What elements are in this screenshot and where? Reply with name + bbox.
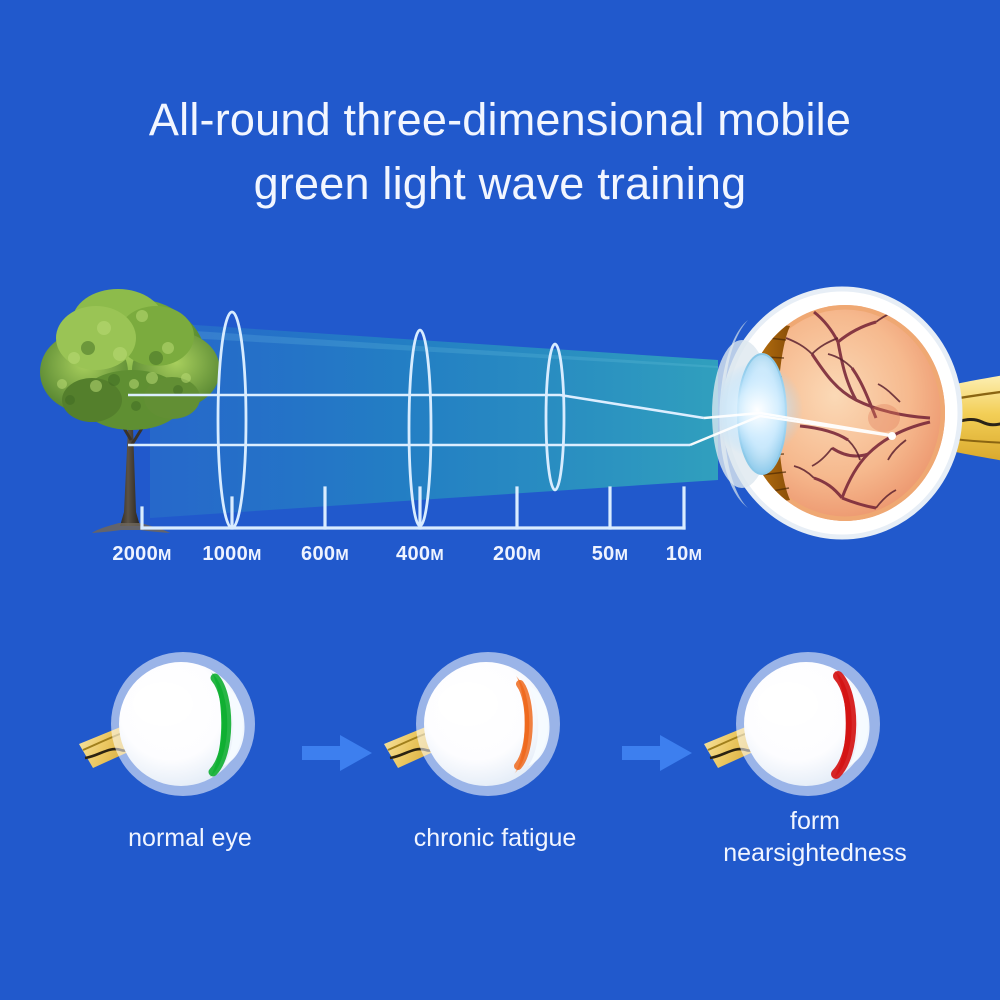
scale-label-1000m: 1000M: [202, 543, 261, 566]
stage-label-line1: form: [790, 807, 840, 835]
light-beam: [150, 322, 718, 518]
stage-label-chronic-fatigue: chronic fatigue: [380, 822, 610, 854]
scale-label-50m: 50M: [592, 543, 629, 566]
stage-label-form-nearsightedness: form nearsightedness: [700, 805, 930, 869]
distance-scale-labels: 2000M 1000M 600M 400M 200M 50M 10M: [0, 543, 1000, 577]
optics-diagram: [0, 250, 1000, 590]
scale-label-400m: 400M: [396, 543, 444, 566]
focus-glow: [711, 362, 803, 458]
scale-label-10m: 10M: [666, 543, 703, 566]
page-title: All-round three-dimensional mobile green…: [0, 88, 1000, 216]
scale-label-2000m: 2000M: [112, 543, 171, 566]
arrow-fatigue-to-myopia: [622, 733, 692, 778]
stage-normal-eye: normal eye: [75, 640, 305, 890]
scale-label-200m: 200M: [493, 543, 541, 566]
title-line-2: green light wave training: [0, 152, 1000, 216]
infographic-root: All-round three-dimensional mobile green…: [0, 0, 1000, 1000]
title-line-1: All-round three-dimensional mobile: [0, 88, 1000, 152]
eye-condition-progression: normal eye: [0, 640, 1000, 890]
stage-form-nearsightedness: form nearsightedness: [700, 640, 930, 890]
stage-chronic-fatigue: chronic fatigue: [380, 640, 610, 890]
stage-label-normal-eye: normal eye: [75, 822, 305, 854]
eye-anatomy-cross-section-icon: [690, 289, 1000, 537]
arrow-normal-to-fatigue: [302, 733, 372, 778]
stage-label-line2: nearsightedness: [723, 839, 906, 867]
scale-label-600m: 600M: [301, 543, 349, 566]
